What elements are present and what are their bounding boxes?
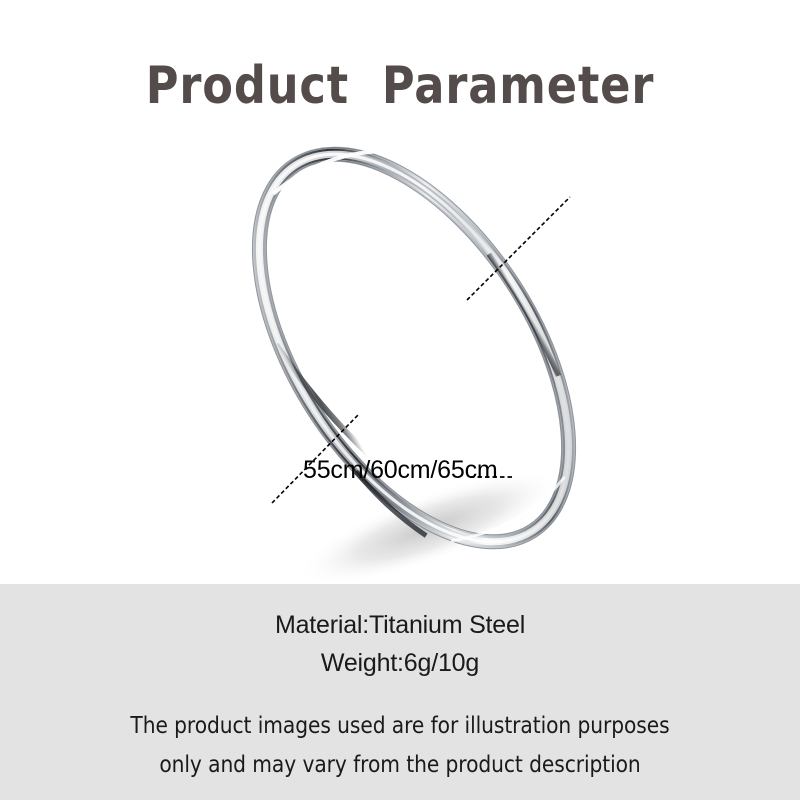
product-image-stage: 55cm/60cm/65cm Width:2mm/3mm: [0, 120, 800, 585]
diameter-label: 55cm/60cm/65cm: [303, 456, 498, 485]
material-spec: Material:Titanium Steel: [0, 611, 800, 640]
specs-panel: Material:Titanium Steel Weight:6g/10g Th…: [0, 584, 800, 800]
disclaimer-line-2: only and may vary from the product descr…: [48, 752, 752, 778]
bangle-illustration: [0, 120, 800, 585]
disclaimer-line-1: The product images used are for illustra…: [48, 713, 752, 739]
weight-spec: Weight:6g/10g: [0, 649, 800, 678]
product-parameter-page: Product Parameter: [0, 0, 800, 800]
page-title: Product Parameter: [56, 58, 744, 115]
